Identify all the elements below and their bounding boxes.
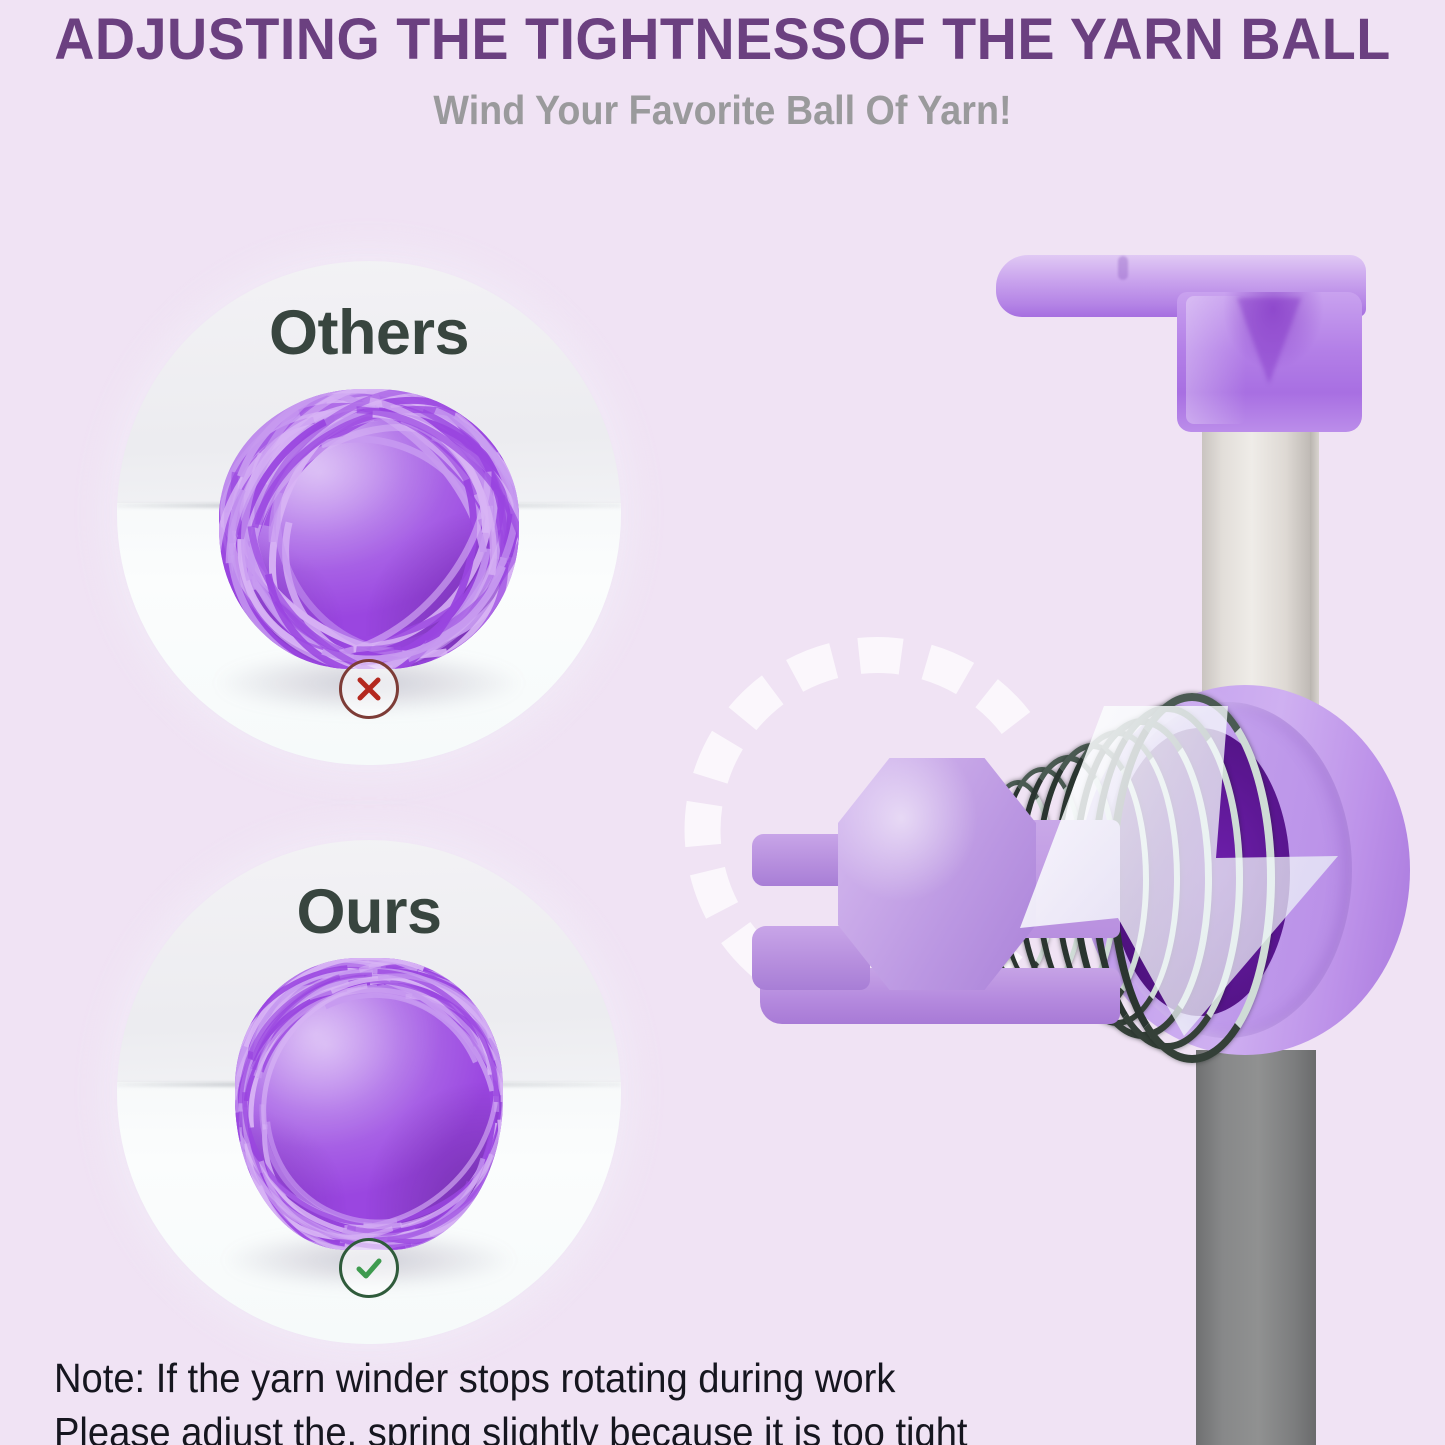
hex-adjustment-knob — [838, 758, 1036, 990]
note-block: Note: If the yarn winder stops rotating … — [54, 1352, 984, 1445]
yarn-ball-others — [219, 389, 519, 669]
check-icon — [351, 1250, 387, 1286]
note-line-1: Note: If the yarn winder stops rotating … — [54, 1352, 984, 1404]
yarn-ball-ours — [235, 958, 503, 1250]
note-line-2: Please adjust the, spring slightly becau… — [54, 1406, 984, 1445]
cap-arm-notch — [1118, 256, 1128, 280]
lower-metal-post — [1196, 1050, 1316, 1445]
status-badge-cross — [339, 659, 399, 719]
cap-highlight — [1186, 296, 1246, 424]
comparison-card-ours: Ours — [117, 840, 621, 1344]
page-title: ADJUSTING THE TIGHTNESSOF THE YARN BALL — [29, 8, 1416, 72]
comparison-label-others: Others — [117, 297, 621, 369]
yarn-shading — [235, 958, 503, 1250]
direction-arrow-icon — [1008, 706, 1348, 1036]
comparison-card-others: Others — [117, 261, 621, 765]
cap-v-fold — [1237, 298, 1301, 384]
yarn-winder-illustration — [610, 210, 1445, 1445]
header: ADJUSTING THE TIGHTNESSOF THE YARN BALL … — [0, 0, 1445, 155]
product-infographic: ADJUSTING THE TIGHTNESSOF THE YARN BALL … — [0, 0, 1445, 1445]
page-subtitle: Wind Your Favorite Ball Of Yarn! — [58, 86, 1387, 134]
cross-icon — [352, 672, 386, 706]
yarn-shading — [219, 389, 519, 669]
comparison-label-ours: Ours — [117, 876, 621, 948]
status-badge-check — [339, 1238, 399, 1298]
